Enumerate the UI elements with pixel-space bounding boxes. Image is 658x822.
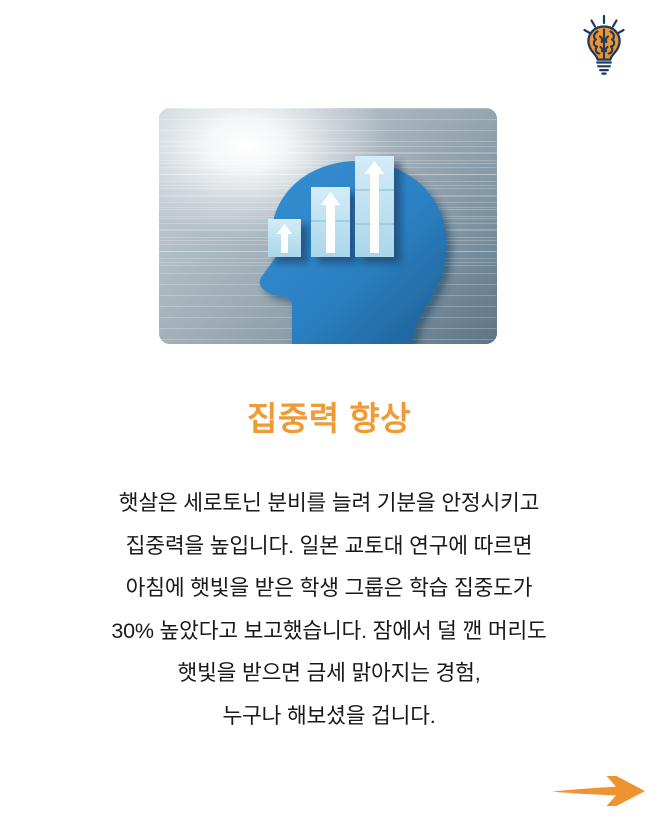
brain-lightbulb-icon bbox=[582, 14, 626, 76]
body-line: 햇살은 세로토닌 분비를 늘려 기분을 안정시키고 bbox=[0, 482, 658, 525]
body-line: 집중력을 높입니다. 일본 교토대 연구에 따르면 bbox=[0, 525, 658, 568]
hero-illustration bbox=[159, 108, 497, 344]
body-line: 햇빛을 받으면 금세 맑아지는 경험, bbox=[0, 652, 658, 695]
body-line: 30% 높았다고 보고했습니다. 잠에서 덜 깬 머리도 bbox=[0, 610, 658, 653]
next-button[interactable] bbox=[550, 772, 648, 810]
body-line: 누구나 해보셨을 겁니다. bbox=[0, 695, 658, 738]
bar-1 bbox=[268, 219, 301, 257]
page-title: 집중력 향상 bbox=[0, 392, 658, 440]
hero-image-card bbox=[159, 108, 497, 344]
bar-2 bbox=[311, 187, 350, 257]
brand-logo bbox=[582, 14, 626, 76]
arrow-right-icon[interactable] bbox=[550, 772, 648, 810]
bar-3 bbox=[355, 156, 394, 257]
body-copy: 햇살은 세로토닌 분비를 늘려 기분을 안정시키고 집중력을 높입니다. 일본 … bbox=[0, 482, 658, 737]
body-line: 아침에 햇빛을 받은 학생 그룹은 학습 집중도가 bbox=[0, 567, 658, 610]
